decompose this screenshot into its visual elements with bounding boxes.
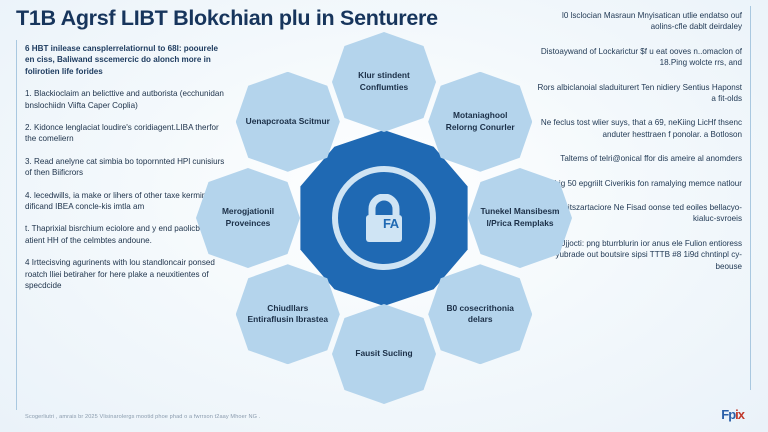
left-paragraph-2: 2. Kidonce lenglaciat loudire's coridiag… bbox=[25, 122, 225, 145]
right-paragraph-3: Ne feclus tost wlier suys, that a 69, ne… bbox=[537, 117, 742, 140]
padlock-label: FA bbox=[383, 216, 399, 231]
petal-top-left-label: Uenapcroata Scitmur bbox=[238, 116, 338, 128]
petal-top-label: Klur stindent Conflumties bbox=[332, 70, 436, 93]
petal-bottom-right-label: B0 cosecrithonia delars bbox=[428, 303, 532, 326]
right-column-divider bbox=[750, 6, 751, 390]
petal-bottom[interactable]: Fausit Sucling bbox=[332, 304, 436, 404]
padlock-icon: FA bbox=[356, 194, 412, 244]
petal-top[interactable]: Klur stindent Conflumties bbox=[332, 32, 436, 132]
right-paragraph-1: Distoaywand of Lockarictur $f u eat oove… bbox=[537, 46, 742, 69]
infographic-page: T1B Agrsf LIBT Blokchian plu in Senturer… bbox=[0, 0, 768, 432]
logo-part-a: Fp bbox=[721, 407, 735, 422]
right-paragraph-5: Bethig 50 epgriilt Civerikis fon ramalyi… bbox=[537, 178, 742, 189]
brand-logo: Fpix bbox=[721, 407, 744, 422]
petal-bottom-right[interactable]: B0 cosecrithonia delars bbox=[428, 264, 532, 364]
left-paragraph-4: 4. lecedwills, ia make or lihers of othe… bbox=[25, 190, 225, 213]
petal-top-right-label: Motaniaghool Relorng Conurler bbox=[428, 110, 532, 133]
left-text-column: 6 HBT inilease cansplerrelatiornul to 68… bbox=[25, 43, 225, 303]
left-paragraph-6: 4 Irttecisving agurinents with lou stand… bbox=[25, 257, 225, 291]
left-paragraph-1: 1. Blackioclaim an belicttive and autbor… bbox=[25, 88, 225, 111]
petal-bottom-label: Fausit Sucling bbox=[347, 348, 420, 360]
petal-bottom-left[interactable]: Chiudllars Entiraflusin Ibrastea bbox=[236, 264, 340, 364]
logo-part-b: ix bbox=[735, 407, 744, 422]
footnote: Scogerliutri , amrais br 2025 Vlisinarol… bbox=[25, 414, 455, 420]
right-paragraph-0: l0 lsclocian Masraun Mnyisatican utlie e… bbox=[537, 10, 742, 33]
right-paragraph-2: Rors albiclanoial sladuiturert Ten nidie… bbox=[537, 82, 742, 105]
hub-and-spoke-diagram: FA Klur stindent Conflumties Motaniaghoo… bbox=[214, 48, 554, 388]
petal-left[interactable]: Merogjationil Proveinces bbox=[196, 168, 300, 268]
petal-right-label: Tunekel Mansibesm l/Prica Remplaks bbox=[468, 206, 572, 229]
petal-right[interactable]: Tunekel Mansibesm l/Prica Remplaks bbox=[468, 168, 572, 268]
petal-bottom-left-label: Chiudllars Entiraflusin Ibrastea bbox=[236, 303, 340, 326]
left-paragraph-3: 3. Read anelyne cat simbia bo topornnted… bbox=[25, 156, 225, 179]
petal-left-label: Merogjationil Proveinces bbox=[196, 206, 300, 229]
petal-top-left[interactable]: Uenapcroata Scitmur bbox=[236, 72, 340, 172]
petal-top-right[interactable]: Motaniaghool Relorng Conurler bbox=[428, 72, 532, 172]
right-text-column: l0 lsclocian Masraun Mnyisatican utlie e… bbox=[537, 10, 742, 285]
left-paragraph-5: t. Thaprixial bisrchium eciolore and y e… bbox=[25, 223, 225, 246]
left-column-divider bbox=[16, 40, 17, 410]
right-paragraph-4: Taltems of telri@onical ffor dis ameire … bbox=[537, 153, 742, 164]
left-paragraph-0: 6 HBT inilease cansplerrelatiornul to 68… bbox=[25, 43, 225, 77]
right-paragraph-7: Ujjocti: png bturrblurin ior anus ele Fu… bbox=[537, 238, 742, 272]
